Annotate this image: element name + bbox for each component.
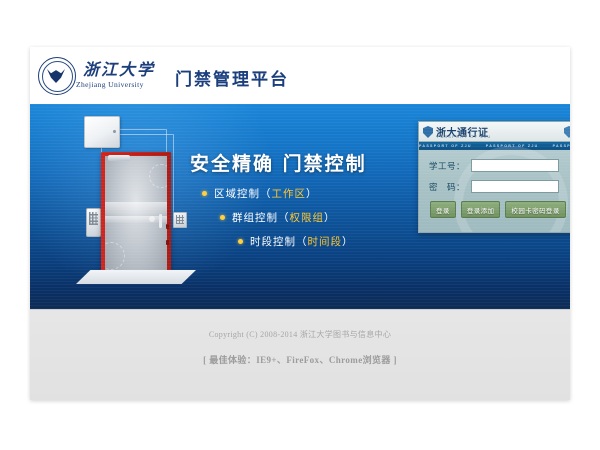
bullet-dot-icon	[202, 191, 207, 196]
feature-highlight: 时间段	[308, 234, 343, 249]
card-reader-icon	[173, 212, 187, 228]
login-button-row: 登录 登录添加 校园卡密码登录	[419, 201, 570, 218]
login-panel: 浙大通行证 PASSPORT OF ZJU PASSPORT OF ZJU PA…	[418, 121, 570, 233]
campus-card-login-button[interactable]: 校园卡密码登录	[505, 201, 565, 218]
wire	[173, 134, 174, 212]
feature-label: 区域控制（	[214, 186, 272, 201]
passport-watermark-strip: PASSPORT OF ZJU PASSPORT OF ZJU PASSPORT…	[419, 142, 570, 150]
field-row-username: 学工号：	[419, 159, 570, 172]
door-illustration	[60, 112, 210, 302]
security-door	[101, 152, 171, 274]
page-title: 门禁管理平台	[175, 65, 289, 90]
copyright-text: Copyright (C) 2008-2014 浙江大学图书与信息中心	[30, 310, 570, 340]
shield-icon	[564, 126, 570, 138]
hero-banner: 安全精确 门禁控制 区域控制（工作区） 群组控制（权限组） 时段控制（时间段） …	[30, 104, 570, 309]
site-footer: Copyright (C) 2008-2014 浙江大学图书与信息中心 [ 最佳…	[30, 309, 570, 400]
door-keypad-reader-icon	[86, 208, 101, 237]
bullet-dot-icon	[220, 215, 225, 220]
floor-plate	[76, 270, 196, 284]
login-button[interactable]: 登录	[430, 201, 456, 218]
shield-icon	[423, 126, 433, 138]
access-controller-box-icon	[84, 116, 120, 148]
browser-support-text: [ 最佳体验：IE9+、FireFox、Chrome浏览器 ]	[30, 340, 570, 366]
strip-text: PASSPORT OF ZJU	[553, 144, 570, 148]
password-input[interactable]	[471, 180, 559, 193]
wire	[118, 129, 166, 130]
university-logo[interactable]: 浙江大学 Zhejiang University	[38, 57, 155, 95]
strip-text: PASSPORT OF ZJU	[419, 144, 486, 148]
bullet-dot-icon	[238, 239, 243, 244]
feature-highlight: 权限组	[290, 210, 325, 225]
password-label: 密 码：	[429, 181, 471, 193]
logo-text-en: Zhejiang University	[76, 80, 155, 89]
feature-label: 群组控制（	[232, 210, 290, 225]
zju-seal-icon	[38, 57, 76, 95]
site-header: 浙江大学 Zhejiang University 门禁管理平台	[30, 47, 570, 104]
feature-label: 时段控制（	[250, 234, 308, 249]
feature-tail: ）	[324, 210, 336, 225]
list-item: 群组控制（权限组）	[220, 210, 354, 225]
strip-text: PASSPORT OF ZJU	[486, 144, 553, 148]
login-add-button[interactable]: 登录添加	[461, 201, 501, 218]
wire	[118, 134, 173, 135]
feature-tail: ）	[306, 186, 318, 201]
hero-headline: 安全精确 门禁控制	[190, 149, 367, 176]
login-form: 学工号： 密 码： 登录 登录添加 校园卡密码登录	[419, 150, 570, 218]
feature-list: 区域控制（工作区） 群组控制（权限组） 时段控制（时间段）	[202, 186, 354, 258]
list-item: 区域控制（工作区）	[202, 186, 354, 201]
login-title-en: PASSPORT OF ZJU	[437, 134, 491, 139]
app-page: 浙江大学 Zhejiang University 门禁管理平台	[30, 47, 570, 400]
feature-tail: ）	[342, 234, 354, 249]
field-row-password: 密 码：	[419, 180, 570, 193]
feature-highlight: 工作区	[272, 186, 307, 201]
username-label: 学工号：	[429, 160, 471, 172]
username-input[interactable]	[471, 159, 559, 172]
door-closer-icon	[108, 155, 130, 161]
login-panel-header: 浙大通行证 PASSPORT OF ZJU	[419, 122, 570, 142]
logo-text-cn: 浙江大学	[83, 63, 155, 80]
list-item: 时段控制（时间段）	[238, 234, 354, 249]
